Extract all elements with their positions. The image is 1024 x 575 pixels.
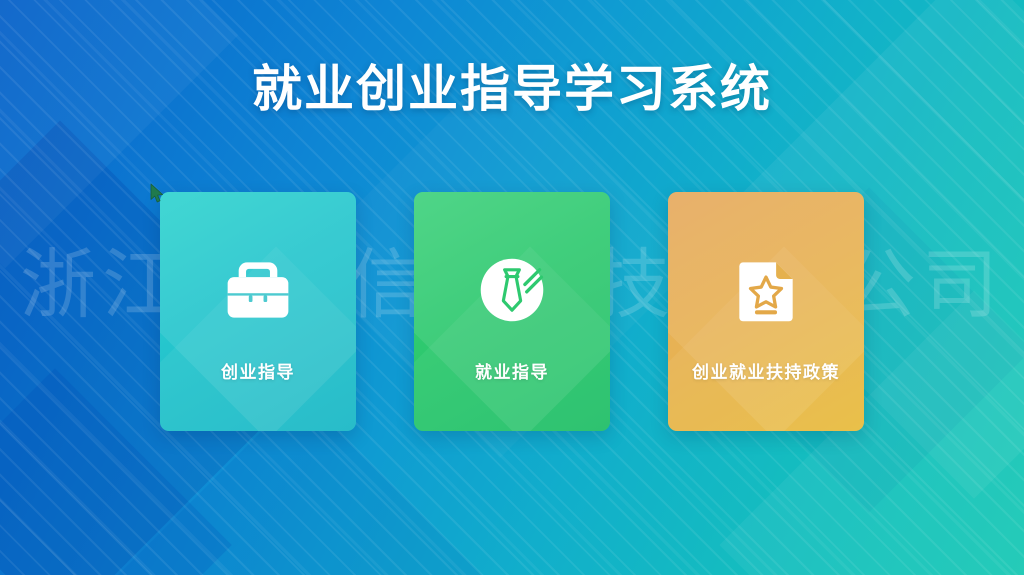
page-title: 就业创业指导学习系统 (0, 61, 1024, 117)
app-root: 浙江驰马信息科技有限公司 就业创业指导学习系统 创业指导 (0, 0, 1024, 575)
card-entrepreneurship-guidance[interactable]: 创业指导 (160, 192, 356, 431)
card-label: 创业就业扶持政策 (692, 358, 840, 383)
necktie-circle-icon (466, 244, 558, 336)
briefcase-icon (212, 244, 304, 336)
document-star-icon (720, 244, 812, 336)
card-support-policy[interactable]: 创业就业扶持政策 (668, 192, 864, 431)
card-label: 创业指导 (221, 358, 295, 383)
card-employment-guidance[interactable]: 就业指导 (414, 192, 610, 431)
card-label: 就业指导 (475, 358, 549, 383)
module-card-row: 创业指导 就业指导 (0, 192, 1024, 431)
